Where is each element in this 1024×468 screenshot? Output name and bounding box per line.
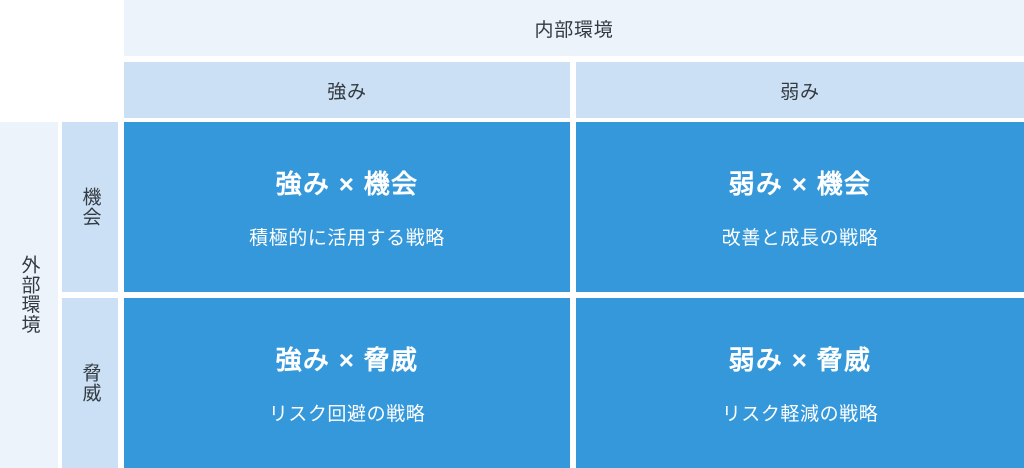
- row-header-threat-label: 脅威: [77, 363, 102, 403]
- quadrant-strength-opportunity: 強み × 機会 積極的に活用する戦略: [124, 122, 570, 292]
- quadrant-strength-opportunity-title: 強み × 機会: [276, 164, 419, 201]
- row-header-threat: 脅威: [62, 298, 118, 468]
- row-header-opportunity-label: 機会: [77, 187, 102, 227]
- column-header-weakness-label: 弱み: [780, 77, 820, 104]
- quadrant-strength-threat-title: 強み × 脅威: [276, 340, 419, 377]
- quadrant-strength-opportunity-subtitle: 積極的に活用する戦略: [249, 223, 445, 250]
- quadrant-strength-threat-subtitle: リスク回避の戦略: [269, 399, 426, 426]
- quadrant-weakness-threat-title: 弱み × 脅威: [729, 340, 872, 377]
- row-header-opportunity: 機会: [62, 122, 118, 292]
- external-environment-axis-label: 外部環境: [16, 255, 41, 334]
- external-environment-axis-header: 外部環境: [0, 122, 58, 468]
- column-header-strength: 強み: [124, 62, 570, 118]
- quadrant-strength-threat: 強み × 脅威 リスク回避の戦略: [124, 298, 570, 468]
- quadrant-weakness-opportunity-subtitle: 改善と成長の戦略: [722, 223, 879, 250]
- column-header-weakness: 弱み: [576, 62, 1024, 118]
- quadrant-weakness-opportunity: 弱み × 機会 改善と成長の戦略: [576, 122, 1024, 292]
- swot-cross-analysis-matrix: 内部環境 強み 弱み 外部環境 機会 脅威 強み × 機会 積極的に活用する戦略…: [0, 0, 1024, 468]
- column-header-strength-label: 強み: [327, 77, 367, 104]
- quadrant-weakness-threat: 弱み × 脅威 リスク軽減の戦略: [576, 298, 1024, 468]
- quadrant-weakness-opportunity-title: 弱み × 機会: [729, 164, 872, 201]
- internal-environment-axis-label: 内部環境: [534, 15, 613, 42]
- internal-environment-axis-header: 内部環境: [124, 0, 1024, 56]
- quadrant-weakness-threat-subtitle: リスク軽減の戦略: [722, 399, 879, 426]
